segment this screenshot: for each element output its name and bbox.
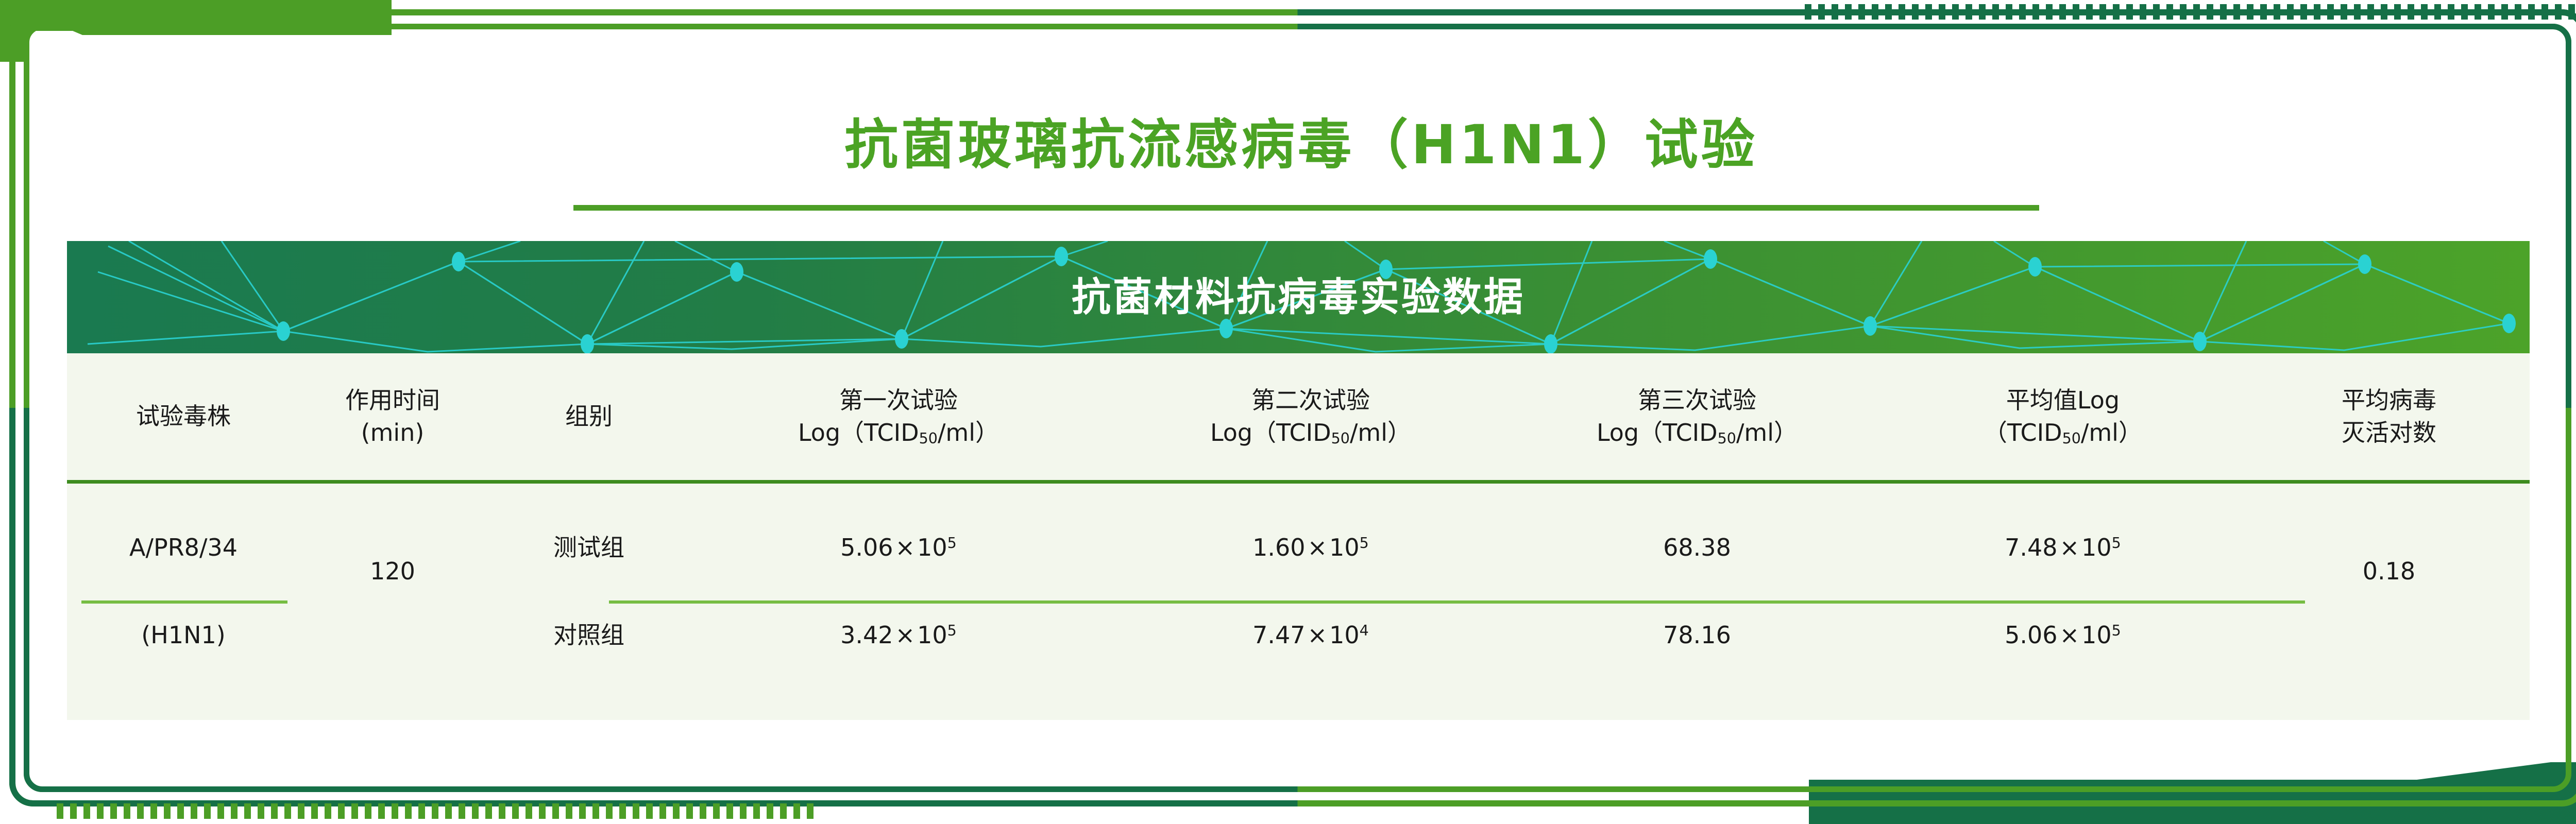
column-header-test2: 第二次试验 Log（TCID50/ml） (1105, 353, 1517, 480)
table-row: A/PR8/34 测试组 5.06×105 1.60×105 68.38 7.4… (67, 518, 2530, 578)
cell-reduction-spacer-2 (2248, 606, 2530, 665)
column-header-mean-line1: 平均值Log (2006, 386, 2120, 414)
title-underline-rule (573, 205, 2039, 211)
cell-reduction-spacer (2248, 518, 2530, 578)
column-header-duration-line1: 作用时间 (345, 386, 440, 414)
row-divider-strain-segment (81, 600, 287, 604)
top-left-wedge-decoration (0, 0, 392, 35)
column-header-test1: 第一次试验 Log（TCID50/ml） (692, 353, 1105, 480)
data-table: 抗菌材料抗病毒实验数据 试验毒株 作用时间 (min) (67, 241, 2530, 720)
cell-test2-value-row1: 1.60×105 (1105, 518, 1517, 578)
column-header-mean-line2: （TCID50/ml） (1984, 417, 2142, 449)
column-header-reduction-line1: 平均病毒 (2342, 386, 2436, 414)
table-row: (H1N1) 对照组 3.42×105 7.47×104 78.16 5.06×… (67, 606, 2530, 665)
cell-group-test: 测试组 (485, 518, 692, 578)
cell-mean-value-row2: 5.06×105 (1877, 606, 2248, 665)
top-right-dashed-ticks-decoration (1805, 4, 2576, 20)
cell-test1-value-row2: 3.42×105 (692, 606, 1105, 665)
column-header-strain-line1: 试验毒株 (136, 402, 231, 430)
cell-mean-value-row1: 7.48×105 (1877, 518, 2248, 578)
table-header-row: 试验毒株 作用时间 (min) 组别 第一次试验 (67, 353, 2530, 480)
column-header-test2-line1: 第二次试验 (1251, 386, 1370, 414)
column-header-reduction: 平均病毒 灭活对数 (2248, 353, 2530, 480)
column-header-group-line1: 组别 (565, 402, 613, 430)
poster-page: 抗菌玻璃抗流感病毒（H1N1）试验 (0, 0, 2576, 824)
table-grid: 试验毒株 作用时间 (min) 组别 第一次试验 (67, 353, 2530, 720)
column-header-mean: 平均值Log （TCID50/ml） (1877, 353, 2248, 480)
column-header-test1-line2: Log（TCID50/ml） (798, 417, 999, 449)
column-header-group: 组别 (485, 353, 692, 480)
column-header-test3-line2: Log（TCID50/ml） (1597, 417, 1798, 449)
cell-strain-line2: (H1N1) (67, 606, 300, 665)
column-header-test3: 第三次试验 Log（TCID50/ml） (1517, 353, 1877, 480)
column-header-test3-line1: 第三次试验 (1638, 386, 1756, 414)
cell-group-control: 对照组 (485, 606, 692, 665)
row-divider-main-segment (609, 600, 2305, 604)
bottom-left-dashed-ticks-decoration (57, 803, 819, 819)
table-banner: 抗菌材料抗病毒实验数据 (67, 241, 2530, 353)
top-left-wedge-stub-decoration (0, 0, 88, 62)
column-header-duration-line2: (min) (345, 417, 440, 449)
column-header-test1-line1: 第一次试验 (839, 386, 958, 414)
cell-test2-value-row2: 7.47×104 (1105, 606, 1517, 665)
column-header-reduction-line2: 灭活对数 (2342, 417, 2436, 449)
cell-duration-spacer-2 (300, 606, 485, 665)
page-title: 抗菌玻璃抗流感病毒（H1N1）试验 (0, 101, 2576, 179)
cell-test3-value-row2: 78.16 (1517, 606, 1877, 665)
column-header-duration: 作用时间 (min) (300, 353, 485, 480)
banner-heading: 抗菌材料抗病毒实验数据 (67, 241, 2530, 353)
column-header-test2-line2: Log（TCID50/ml） (1210, 417, 1411, 449)
bottom-right-wedge-decoration (1809, 762, 2576, 824)
column-header-strain: 试验毒株 (67, 353, 300, 480)
cell-strain-line1: A/PR8/34 (67, 518, 300, 578)
header-separator-rule (67, 480, 2530, 484)
cell-duration-spacer (300, 518, 485, 578)
cell-test3-value-row1: 68.38 (1517, 518, 1877, 578)
cell-test1-value-row1: 5.06×105 (692, 518, 1105, 578)
